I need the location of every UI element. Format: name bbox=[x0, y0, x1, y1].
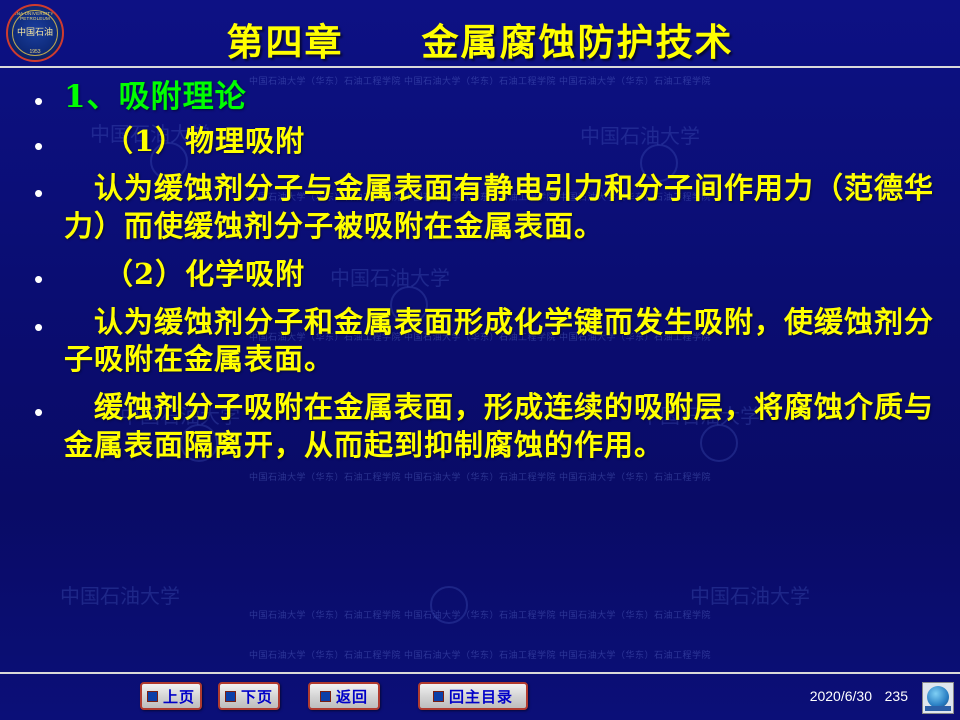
back-label: 返回 bbox=[336, 686, 368, 707]
square-icon bbox=[433, 691, 444, 702]
bullet-icon: • bbox=[34, 170, 64, 206]
watermark-line: 中国石油大学（华东）石油工程学院 中国石油大学（华东）石油工程学院 中国石油大学… bbox=[0, 648, 960, 661]
list-item: • （1）物理吸附 bbox=[0, 123, 960, 161]
list-item-text: （2）化学吸附 bbox=[64, 256, 934, 294]
watermark-line: 中国石油大学（华东）石油工程学院 中国石油大学（华东）石油工程学院 中国石油大学… bbox=[0, 470, 960, 483]
list-item: • （2）化学吸附 bbox=[0, 256, 960, 294]
next-page-label: 下页 bbox=[241, 686, 273, 707]
prev-page-button[interactable]: 上页 bbox=[140, 682, 202, 710]
watermark-big: 中国石油大学 bbox=[690, 580, 810, 609]
list-item-text: （1）物理吸附 bbox=[64, 123, 934, 161]
list-item: • 认为缓蚀剂分子与金属表面有静电引力和分子间作用力（范德华力）而使缓蚀剂分子被… bbox=[0, 170, 960, 245]
list-item-text: 认为缓蚀剂分子和金属表面形成化学键而发生吸附，使缓蚀剂分子吸附在金属表面。 bbox=[64, 304, 934, 379]
slide-header: CHINA UNIVERSITY OF PETROLEUM 中国石油 1953 … bbox=[0, 0, 960, 68]
list-item: • 1、吸附理论 bbox=[0, 78, 960, 117]
list-item: • 认为缓蚀剂分子和金属表面形成化学键而发生吸附，使缓蚀剂分子吸附在金属表面。 bbox=[0, 304, 960, 379]
bullet-icon: • bbox=[34, 256, 64, 292]
watermark-big: 中国石油大学 bbox=[60, 580, 180, 609]
square-icon bbox=[147, 691, 158, 702]
main-menu-button[interactable]: 回主目录 bbox=[418, 682, 528, 710]
square-icon bbox=[225, 691, 236, 702]
watermark-line: 中国石油大学（华东）石油工程学院 中国石油大学（华东）石油工程学院 中国石油大学… bbox=[0, 608, 960, 621]
bullet-icon: • bbox=[34, 123, 64, 159]
bullet-icon: • bbox=[34, 304, 64, 340]
bullet-icon: • bbox=[34, 78, 64, 114]
slide: 中国石油大学（华东）石油工程学院 中国石油大学（华东）石油工程学院 中国石油大学… bbox=[0, 0, 960, 720]
main-menu-label: 回主目录 bbox=[449, 686, 513, 707]
list-item-text: 认为缓蚀剂分子与金属表面有静电引力和分子间作用力（范德华力）而使缓蚀剂分子被吸附… bbox=[64, 170, 934, 245]
bullet-icon: • bbox=[34, 389, 64, 425]
list-item-text: 1、吸附理论 bbox=[64, 78, 934, 117]
slide-footer: 上页 下页 返回 回主目录 2020/6/30 235 bbox=[0, 672, 960, 720]
page-title: 第四章 金属腐蚀防护技术 bbox=[0, 12, 960, 66]
next-page-button[interactable]: 下页 bbox=[218, 682, 280, 710]
list-item-text: 缓蚀剂分子吸附在金属表面，形成连续的吸附层，将腐蚀介质与金属表面隔离开，从而起到… bbox=[64, 389, 934, 464]
date-text: 2020/6/30 bbox=[810, 688, 872, 704]
square-icon bbox=[320, 691, 331, 702]
page-number: 235 bbox=[885, 688, 908, 704]
list-item: • 缓蚀剂分子吸附在金属表面，形成连续的吸附层，将腐蚀介质与金属表面隔离开，从而… bbox=[0, 389, 960, 464]
globe-icon[interactable] bbox=[922, 682, 954, 714]
prev-page-label: 上页 bbox=[163, 686, 195, 707]
slide-content: • 1、吸附理论 • （1）物理吸附 • 认为缓蚀剂分子与金属表面有静电引力和分… bbox=[0, 78, 960, 464]
watermark-seal bbox=[430, 586, 468, 624]
back-button[interactable]: 返回 bbox=[308, 682, 380, 710]
